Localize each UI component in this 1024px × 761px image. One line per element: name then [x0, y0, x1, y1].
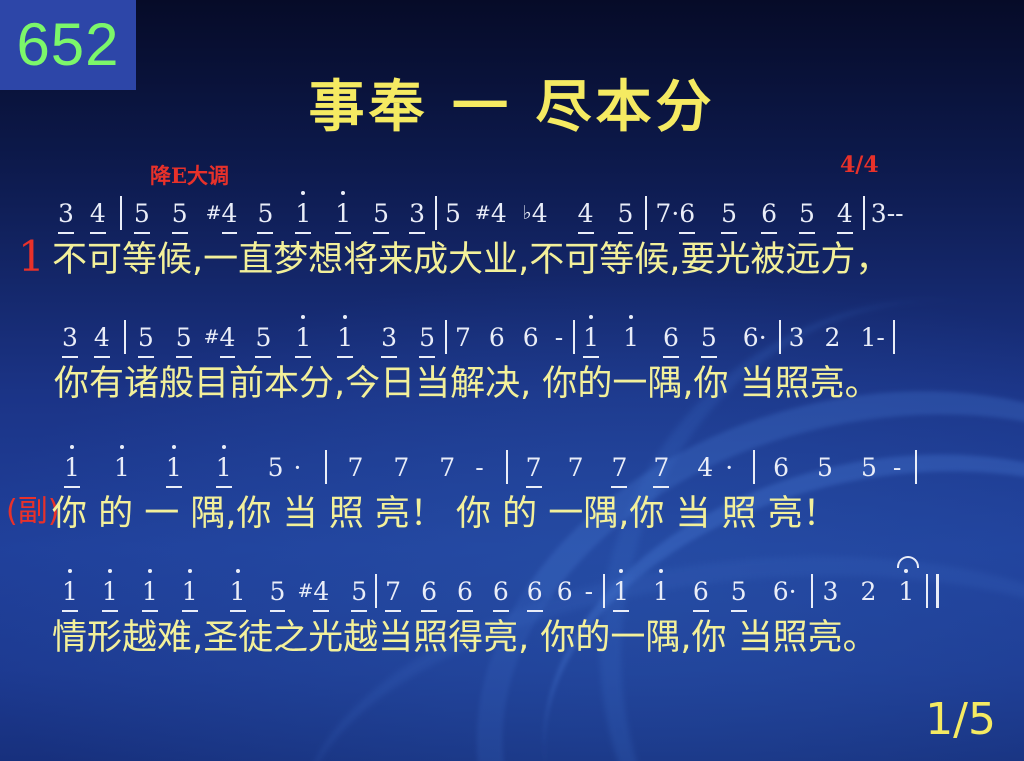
music-system-3: 11115·777-77774·655- 你 的 一 隅,你 当 照 亮！ 你 … [0, 450, 1024, 540]
music-system-1: 3455#4511535#4♭4457·656543-- 不可等候,一直梦想将来… [0, 196, 1024, 286]
notation-line-3: 11115·777-77774·655- [0, 450, 1024, 490]
lyrics-line-4: 情形越难,圣徒之光越当照得亮, 你的一隅,你 当照亮。 [0, 614, 1024, 664]
time-signature-label: 4/4 [840, 152, 879, 178]
lyrics-line-2: 你有诸般目前本分,今日当解决, 你的一隅,你 当照亮。 [0, 360, 1024, 410]
notation-line-4: 111115#45766666-11656·321 [0, 574, 1024, 614]
notation-line-1: 3455#4511535#4♭4457·656543-- [0, 196, 1024, 236]
lyrics-line-3: 你 的 一 隅,你 当 照 亮！ 你 的 一隅,你 当 照 亮！ [0, 490, 1024, 540]
notation-line-2: 3455#451135766-11656·321- [0, 320, 1024, 360]
page-counter: 1/5 [925, 694, 996, 745]
music-system-2: 3455#451135766-11656·321- 你有诸般目前本分,今日当解决… [0, 320, 1024, 410]
lyrics-line-1: 不可等候,一直梦想将来成大业,不可等候,要光被远方， [0, 236, 1024, 286]
key-signature-label: 降E大调 [150, 160, 229, 190]
hymn-slide: 652 事奉 一 尽本分 降E大调 4/4 1 (副) 3455#4511535… [0, 0, 1024, 761]
page-title: 事奉 一 尽本分 [0, 62, 1024, 143]
fermata-icon [897, 556, 919, 568]
music-system-4: 111115#45766666-11656·321 情形越难,圣徒之光越当照得亮… [0, 574, 1024, 664]
